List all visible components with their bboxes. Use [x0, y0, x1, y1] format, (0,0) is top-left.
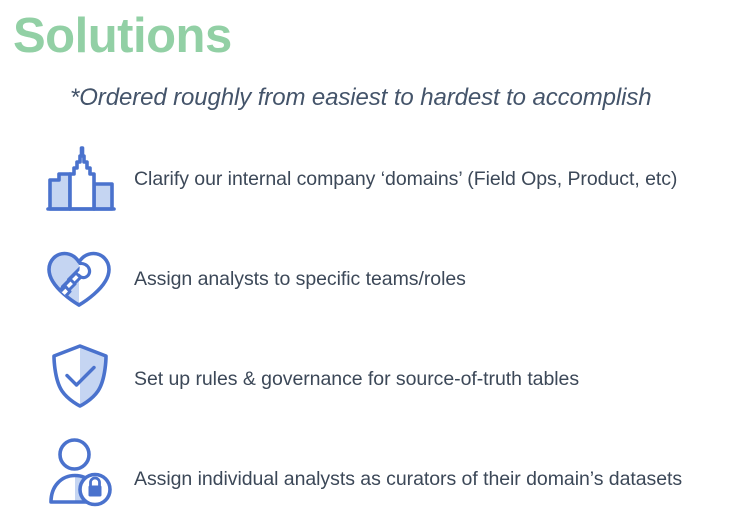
solutions-list: Clarify our internal company ‘domains’ (… — [0, 140, 733, 516]
list-item-label: Clarify our internal company ‘domains’ (… — [134, 168, 677, 191]
list-item-label: Assign individual analysts as curators o… — [134, 468, 682, 491]
solutions-slide: Solutions *Ordered roughly from easiest … — [0, 0, 733, 516]
page-title: Solutions — [13, 8, 232, 64]
page-subtitle: *Ordered roughly from easiest to hardest… — [70, 84, 652, 112]
shield-check-icon — [50, 343, 110, 409]
list-item-label: Assign analysts to specific teams/roles — [134, 268, 466, 291]
heart-handshake-icon — [45, 250, 113, 308]
city-buildings-icon — [46, 146, 116, 212]
list-item-label: Set up rules & governance for source-of-… — [134, 368, 579, 391]
user-lock-icon — [48, 437, 114, 507]
